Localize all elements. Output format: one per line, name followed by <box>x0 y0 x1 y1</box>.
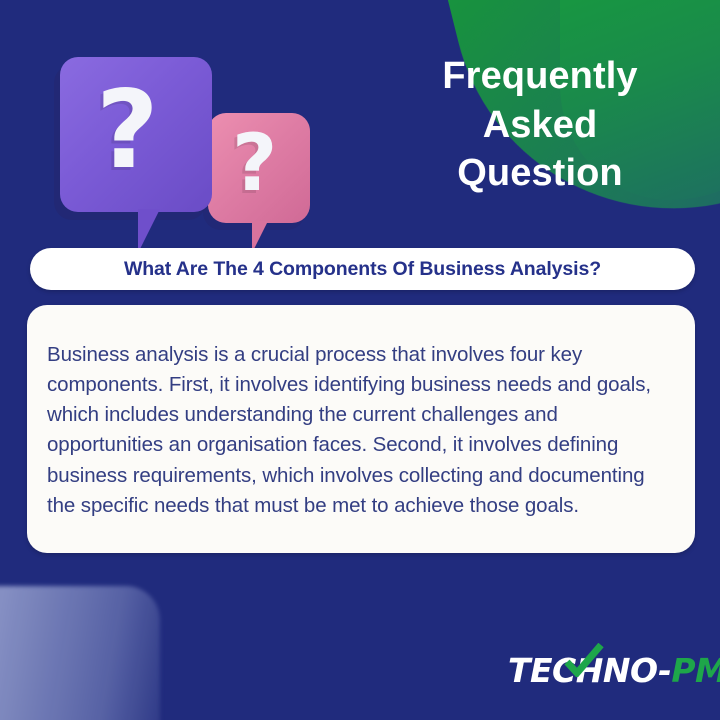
brand-logo: TECHNO-PM <box>508 650 720 690</box>
question-text: What Are The 4 Components Of Business An… <box>124 258 601 281</box>
page-title-line-1: Frequently <box>390 52 690 101</box>
answer-card: Business analysis is a crucial process t… <box>27 305 695 553</box>
speech-bubble-purple-tail <box>138 209 170 253</box>
page-title-line-2: Asked <box>390 101 690 150</box>
question-banner: What Are The 4 Components Of Business An… <box>30 248 695 290</box>
faq-poster: ? ? Frequently Asked Question What Are T… <box>0 0 720 720</box>
question-mark-icon: ? <box>232 125 277 203</box>
brand-logo-wordmark: TECHNO-PM <box>508 654 720 687</box>
speech-bubble-purple: ? <box>60 57 212 212</box>
page-title: Frequently Asked Question <box>390 52 690 198</box>
brand-logo-primary: TECHNO- <box>508 651 671 690</box>
answer-text: Business analysis is a crucial process t… <box>47 340 673 522</box>
speech-bubble-pink: ? <box>208 113 310 223</box>
brand-logo-accent: PM <box>671 651 720 690</box>
blue-blob-shape <box>0 586 160 720</box>
page-title-line-3: Question <box>390 149 690 198</box>
question-mark-icon: ? <box>96 77 159 185</box>
